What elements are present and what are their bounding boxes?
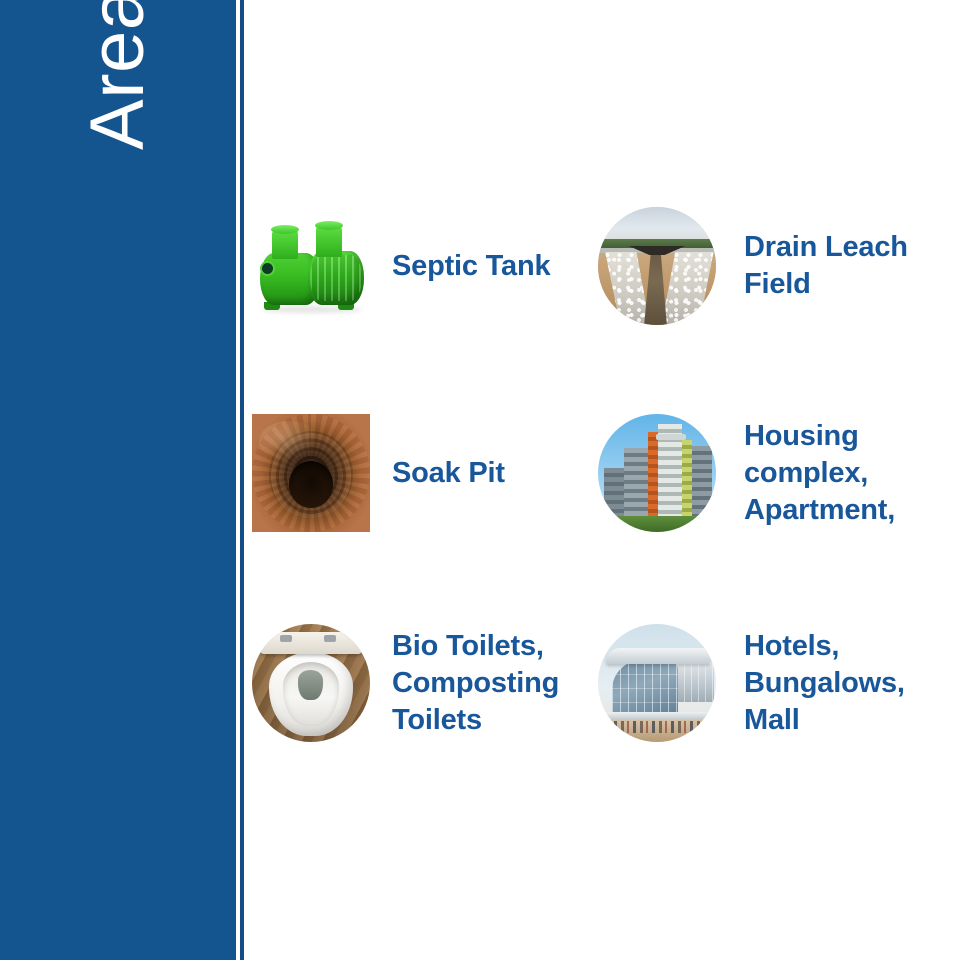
mall-image — [598, 624, 716, 742]
application-item-label: Bio Toilets, Composting Toilets — [370, 628, 598, 739]
application-item-soak-pit[interactable]: Soak Pit — [252, 414, 598, 532]
toilet-hinge-right — [324, 635, 336, 642]
pit-highlight — [259, 421, 318, 461]
housing-complex-image — [598, 414, 716, 532]
banner-edge-divider — [240, 0, 244, 960]
page-title: Areas Of Application — [0, 0, 236, 236]
vertical-title-banner: Areas Of Application — [0, 0, 236, 960]
application-item-label: Drain Leach Field — [716, 229, 960, 303]
application-item-label: Soak Pit — [370, 455, 505, 492]
application-item-label: Housing complex, Apartment, — [716, 418, 960, 529]
application-item-label: Septic Tank — [370, 248, 550, 285]
grid-row: Septic Tank Drain Leach Field — [252, 196, 960, 336]
slide-root: Areas Of Application — [0, 0, 960, 960]
tank-ribs — [310, 255, 362, 301]
mall-roof-canopy — [606, 648, 710, 664]
tower-2 — [624, 448, 650, 520]
application-areas-grid: Septic Tank Drain Leach Field — [252, 0, 960, 960]
toilet-seat-lid — [260, 632, 362, 654]
drain-leach-field-image — [598, 207, 716, 325]
tower-roof — [656, 434, 686, 440]
toilet-water-spot — [298, 670, 323, 700]
tank-lid-left — [271, 225, 299, 234]
mall-crowd — [602, 721, 712, 733]
septic-tank-image — [252, 207, 370, 325]
landscape-greenery — [598, 516, 716, 532]
mall-glass-facade — [612, 660, 678, 716]
soak-pit-image — [252, 414, 370, 532]
toilet-hinge-left — [280, 635, 292, 642]
grid-row: Bio Toilets, Composting Toilets Hotels, … — [252, 608, 960, 758]
application-item-bio-toilets[interactable]: Bio Toilets, Composting Toilets — [252, 624, 598, 742]
grid-row: Soak Pit Housing complex, Apartment, — [252, 398, 960, 548]
application-item-drain-leach-field[interactable]: Drain Leach Field — [598, 207, 960, 325]
tower-1 — [604, 468, 626, 520]
tank-inlet-port — [262, 263, 273, 274]
application-item-label: Hotels, Bungalows, Mall — [716, 628, 960, 739]
application-item-septic-tank[interactable]: Septic Tank — [252, 207, 598, 325]
tank-lid-right — [315, 221, 343, 230]
application-item-hotels-mall[interactable]: Hotels, Bungalows, Mall — [598, 624, 960, 742]
bio-toilet-image — [252, 624, 370, 742]
application-item-housing-complex[interactable]: Housing complex, Apartment, — [598, 414, 960, 532]
